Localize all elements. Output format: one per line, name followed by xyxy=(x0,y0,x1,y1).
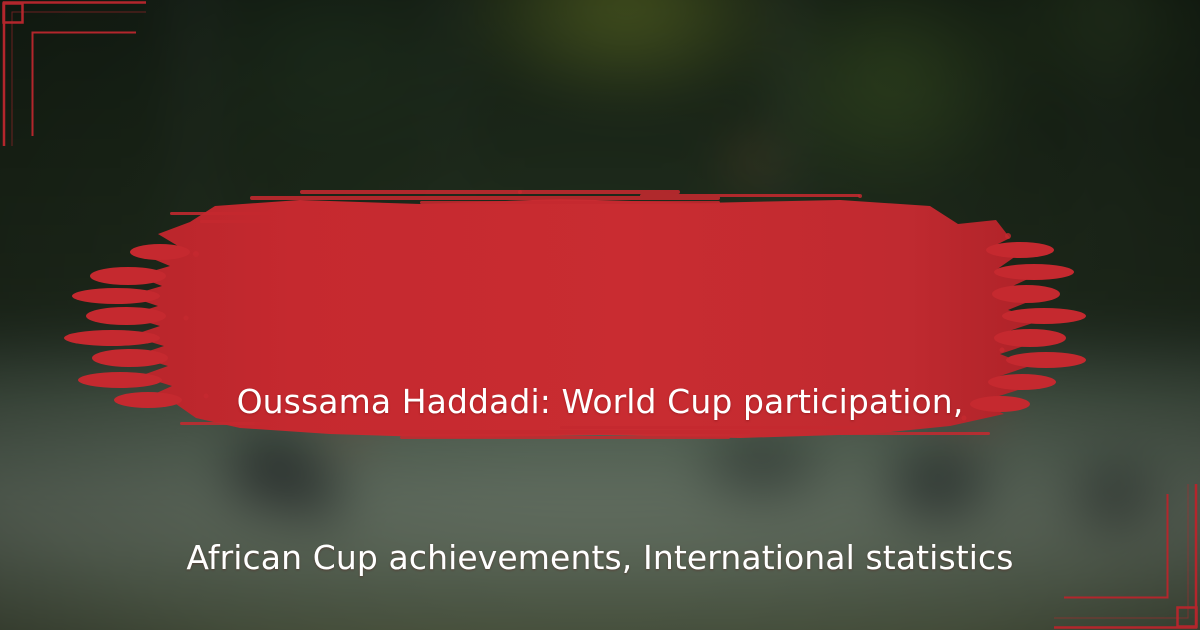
card-title-line-2: African Cup achievements, International … xyxy=(0,532,1200,584)
share-card: Oussama Haddadi: World Cup participation… xyxy=(0,0,1200,630)
card-title: Oussama Haddadi: World Cup participation… xyxy=(0,272,1200,630)
card-title-line-1: Oussama Haddadi: World Cup participation… xyxy=(0,376,1200,428)
